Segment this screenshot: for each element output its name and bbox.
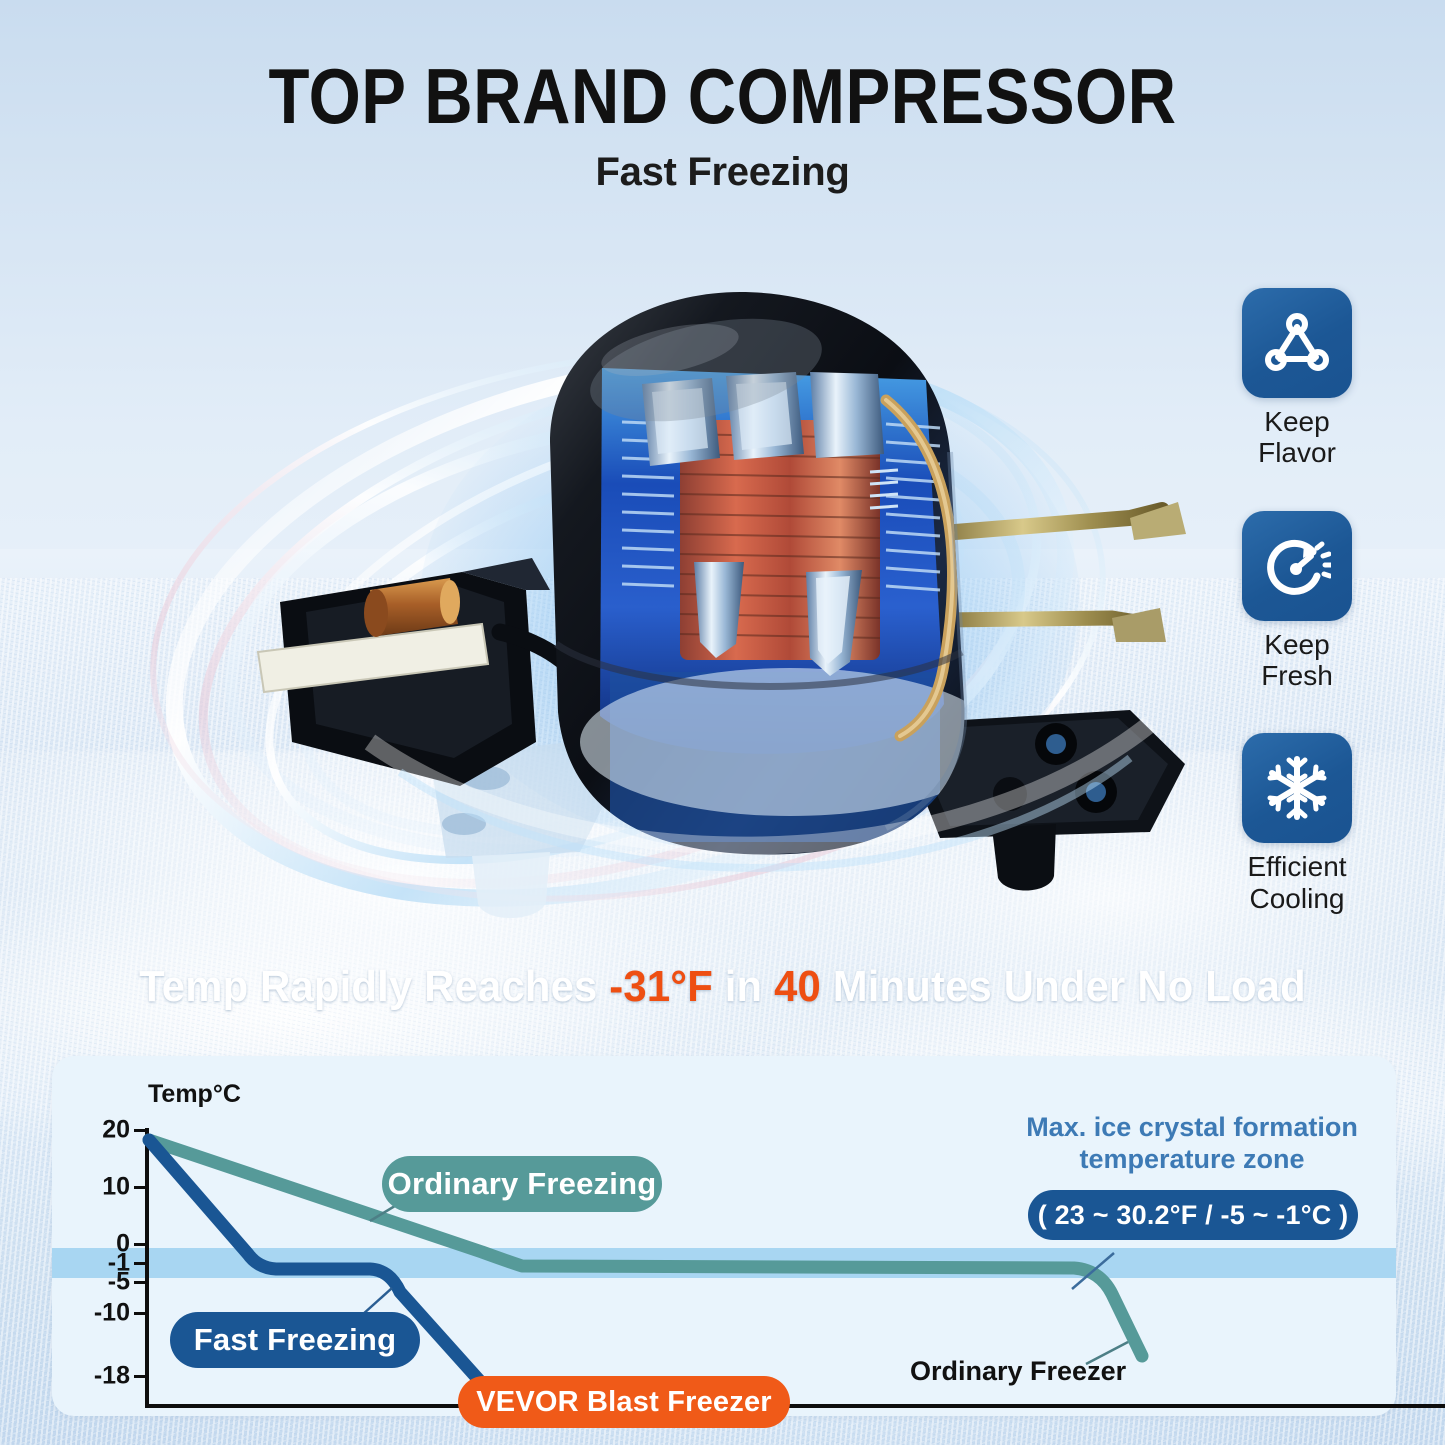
tagline-part3: Minutes Under No Load bbox=[821, 962, 1306, 1011]
vevor-blast-freezer-badge[interactable]: VEVOR Blast Freezer bbox=[458, 1376, 790, 1428]
compressor-product-image bbox=[250, 272, 1210, 932]
freezing-curve-chart-card: Temp°C 20 10 0 -1 -5 -10 -18 bbox=[52, 1056, 1396, 1416]
tagline-part1: Temp Rapidly Reaches bbox=[139, 962, 609, 1011]
feature-list: KeepFlavor KeepFr bbox=[1197, 288, 1397, 956]
ice-crystal-zone-title: Max. ice crystal formation temperature z… bbox=[982, 1112, 1402, 1176]
snowflake-icon bbox=[1264, 755, 1330, 821]
feature-label: KeepFlavor bbox=[1197, 406, 1397, 469]
tagline-temp-value: -31°F bbox=[609, 962, 713, 1011]
feature-icon-box bbox=[1242, 511, 1352, 621]
zone-title-line1: Max. ice crystal formation bbox=[1026, 1112, 1358, 1142]
ice-crystal-zone-value[interactable]: ( 23 ~ 30.2°F / -5 ~ -1°C ) bbox=[1028, 1190, 1358, 1240]
fast-freezing-callout[interactable]: Fast Freezing bbox=[170, 1312, 420, 1368]
feature-keep-flavor[interactable]: KeepFlavor bbox=[1197, 288, 1397, 469]
feature-keep-fresh[interactable]: KeepFresh bbox=[1197, 511, 1397, 692]
feature-efficient-cooling[interactable]: EfficientCooling bbox=[1197, 733, 1397, 914]
chart-area: Temp°C 20 10 0 -1 -5 -10 -18 bbox=[52, 1056, 1396, 1416]
tagline-minutes-value: 40 bbox=[774, 962, 821, 1011]
zone-title-line2: temperature zone bbox=[1079, 1144, 1304, 1174]
ordinary-freezing-callout[interactable]: Ordinary Freezing bbox=[382, 1156, 662, 1212]
page-subtitle: Fast Freezing bbox=[0, 150, 1445, 195]
feature-label: KeepFresh bbox=[1197, 629, 1397, 692]
molecule-network-icon bbox=[1264, 311, 1330, 375]
feature-icon-box bbox=[1242, 733, 1352, 843]
feature-icon-box bbox=[1242, 288, 1352, 398]
performance-tagline: Temp Rapidly Reaches -31°F in 40 Minutes… bbox=[36, 962, 1409, 1012]
page-title: TOP BRAND COMPRESSOR bbox=[101, 56, 1344, 138]
ordinary-freezer-label: Ordinary Freezer bbox=[910, 1356, 1126, 1387]
header: TOP BRAND COMPRESSOR Fast Freezing bbox=[0, 56, 1445, 195]
tagline-part2: in bbox=[713, 962, 774, 1011]
feature-label: EfficientCooling bbox=[1197, 851, 1397, 914]
gauge-speedometer-icon bbox=[1263, 534, 1331, 598]
